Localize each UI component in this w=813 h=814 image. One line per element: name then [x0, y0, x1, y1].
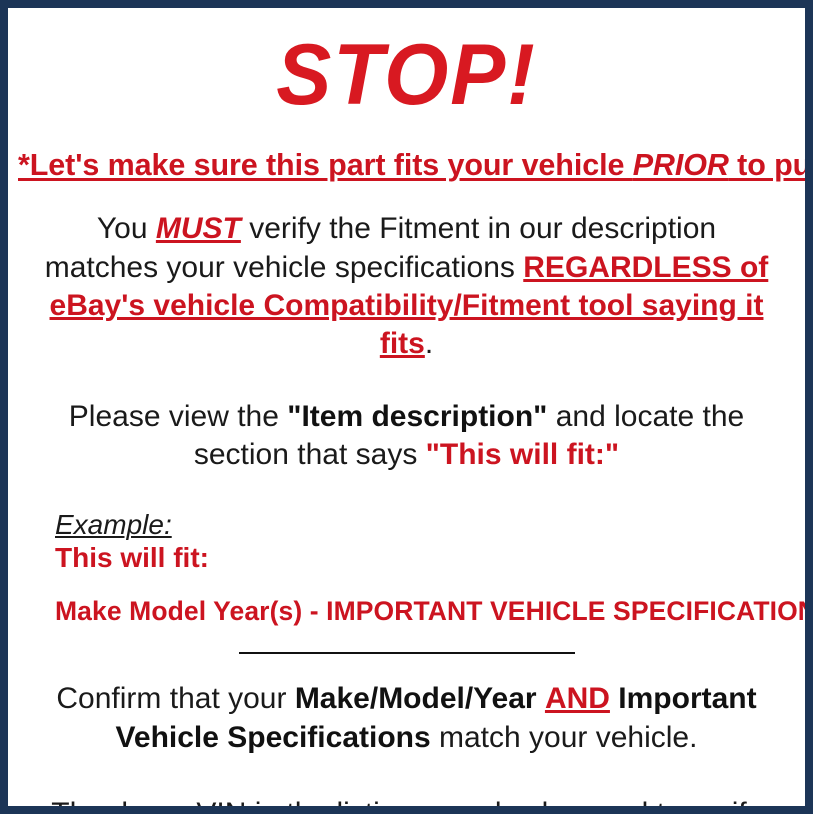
fitment-warning-notice: STOP! *Let's make sure this part fits yo… — [0, 0, 813, 814]
example-label: Example: — [55, 509, 172, 540]
subtitle-after: to purchasing* — [729, 148, 813, 182]
divider-wrapper — [18, 652, 795, 654]
example-label-row: Example: — [55, 509, 795, 540]
p2-segment-1: Please view the — [69, 400, 287, 433]
p1-segment-5: . — [425, 327, 433, 360]
paragraph-confirm-match: Confirm that your Make/Model/Year AND Im… — [18, 680, 795, 757]
p3-make-model-year-emphasis: Make/Model/Year — [295, 682, 537, 715]
example-fit-heading: This will fit: — [55, 541, 795, 575]
p3-and-emphasis: AND — [545, 682, 610, 715]
notice-content: STOP! *Let's make sure this part fits yo… — [8, 8, 805, 806]
p3-segment-5: match your vehicle. — [431, 721, 698, 754]
horizontal-divider — [239, 652, 575, 654]
p1-segment-1: You — [97, 212, 156, 245]
example-block: Example: This will fit: Make Model Year(… — [18, 509, 795, 629]
subtitle-before: *Let's make sure this part fits your veh… — [18, 148, 633, 182]
example-spec-line: Make Model Year(s) - IMPORTANT VEHICLE S… — [55, 596, 795, 628]
paragraph-verify-fitment: You MUST verify the Fitment in our descr… — [18, 210, 795, 364]
p2-item-description-emphasis: "Item description" — [287, 400, 547, 433]
p3-segment-1: Confirm that your — [56, 682, 294, 715]
subtitle-prior-emphasis: PRIOR — [633, 148, 729, 182]
p1-must-emphasis: MUST — [156, 212, 241, 245]
paragraph-item-description: Please view the "Item description" and l… — [18, 398, 795, 475]
p2-this-will-fit-emphasis: "This will fit:" — [426, 438, 619, 471]
stop-headline: STOP! — [34, 32, 780, 118]
subtitle-line: *Let's make sure this part fits your veh… — [18, 148, 795, 182]
paragraph-donor-vin: The donor VIN in the listing can also be… — [18, 795, 795, 814]
